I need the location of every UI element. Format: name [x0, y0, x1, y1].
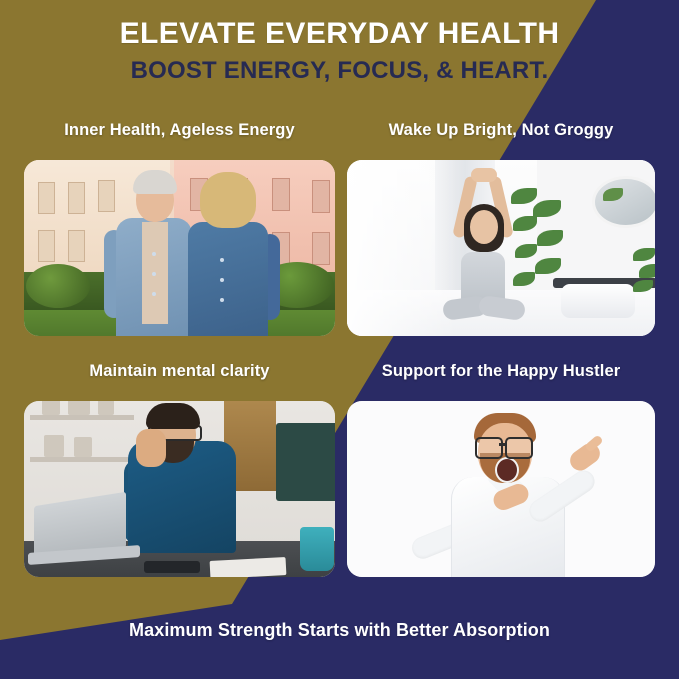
- tile-caption-inner-health: Inner Health, Ageless Energy: [24, 121, 335, 140]
- photo-tile-stretching-woman: [347, 160, 655, 336]
- photo-couple-outdoors: [24, 160, 335, 336]
- page-subtitle: BOOST ENERGY, FOCUS, & HEART.: [0, 56, 679, 86]
- photo-tile-pointing-man: [347, 401, 655, 577]
- navy-diagonal-background: [0, 0, 679, 679]
- photo-tile-couple: [24, 160, 335, 336]
- tile-caption-wake-up-bright: Wake Up Bright, Not Groggy: [347, 121, 655, 140]
- photo-tile-tired-man: [24, 401, 335, 577]
- tile-caption-happy-hustler: Support for the Happy Hustler: [347, 362, 655, 381]
- tile-caption-mental-clarity: Maintain mental clarity: [24, 362, 335, 381]
- header-block: ELEVATE EVERYDAY HEALTH BOOST ENERGY, FO…: [0, 16, 679, 86]
- photo-excited-man-pointing: [347, 401, 655, 577]
- photo-woman-stretching-bedroom: [347, 160, 655, 336]
- page-title: ELEVATE EVERYDAY HEALTH: [0, 16, 679, 51]
- photo-man-rubbing-eyes-laptop: [24, 401, 335, 577]
- infographic-canvas: ELEVATE EVERYDAY HEALTH BOOST ENERGY, FO…: [0, 0, 679, 679]
- footer-banner-text: Maximum Strength Starts with Better Abso…: [0, 620, 679, 641]
